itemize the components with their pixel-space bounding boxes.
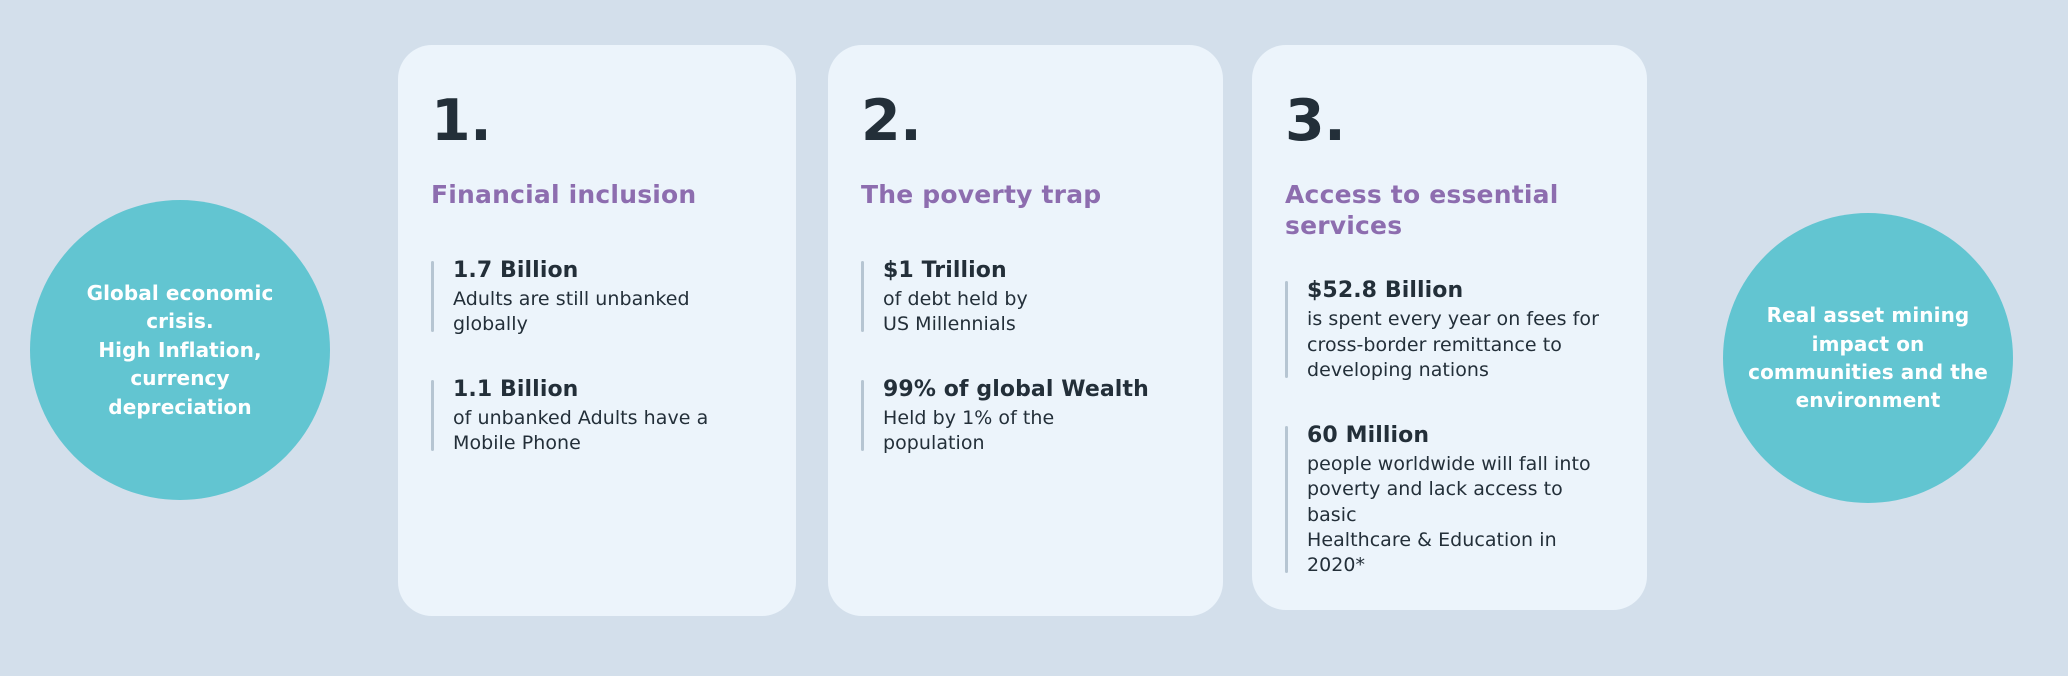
stat-description: of debt held by US Millennials <box>883 287 1185 338</box>
stat-accent-bar <box>1285 426 1288 573</box>
stat-accent-bar <box>431 261 434 332</box>
card-access-to-essential-services: 3. Access to essential services $52.8 Bi… <box>1252 45 1647 610</box>
stat-value: $52.8 Billion <box>1307 277 1609 305</box>
stat-description: of unbanked Adults have a Mobile Phone <box>453 406 758 457</box>
card-1-title: Financial inclusion <box>431 180 758 211</box>
stat-value: $1 Trillion <box>883 257 1185 285</box>
stat-description: people worldwide will fall into poverty … <box>1307 452 1609 579</box>
stat-description: Held by 1% of the population <box>883 406 1185 457</box>
right-context-bubble-text: Real asset mining impact on communities … <box>1734 301 2002 415</box>
stat-accent-bar <box>861 380 864 451</box>
stat-accent-bar <box>1285 281 1288 378</box>
stat-description: is spent every year on fees for cross-bo… <box>1307 307 1609 383</box>
card-poverty-trap: 2. The poverty trap $1 Trillion of debt … <box>828 45 1223 616</box>
stat-description: Adults are still unbanked globally <box>453 287 758 338</box>
stat-accent-bar <box>861 261 864 332</box>
left-context-bubble-text: Global economic crisis. High Inflation, … <box>61 279 300 421</box>
stat-item: 1.7 Billion Adults are still unbanked gl… <box>431 257 758 338</box>
stat-value: 99% of global Wealth <box>883 376 1185 404</box>
stat-accent-bar <box>431 380 434 451</box>
stat-item: 60 Million people worldwide will fall in… <box>1285 422 1609 579</box>
card-1-number: 1. <box>431 93 758 150</box>
stat-item: 99% of global Wealth Held by 1% of the p… <box>861 376 1185 457</box>
stat-value: 1.1 Billion <box>453 376 758 404</box>
stat-item: 1.1 Billion of unbanked Adults have a Mo… <box>431 376 758 457</box>
card-1-stats: 1.7 Billion Adults are still unbanked gl… <box>431 257 758 457</box>
stat-item: $52.8 Billion is spent every year on fee… <box>1285 277 1609 384</box>
infographic-canvas: Global economic crisis. High Inflation, … <box>0 0 2068 676</box>
stat-item: $1 Trillion of debt held by US Millennia… <box>861 257 1185 338</box>
left-context-bubble: Global economic crisis. High Inflation, … <box>30 200 330 500</box>
card-2-stats: $1 Trillion of debt held by US Millennia… <box>861 257 1185 457</box>
card-3-title: Access to essential services <box>1285 180 1609 241</box>
right-context-bubble: Real asset mining impact on communities … <box>1723 213 2013 503</box>
card-2-number: 2. <box>861 93 1185 150</box>
stat-value: 1.7 Billion <box>453 257 758 285</box>
card-2-title: The poverty trap <box>861 180 1185 211</box>
card-3-stats: $52.8 Billion is spent every year on fee… <box>1285 277 1609 579</box>
stat-value: 60 Million <box>1307 422 1609 450</box>
card-3-number: 3. <box>1285 93 1609 150</box>
card-financial-inclusion: 1. Financial inclusion 1.7 Billion Adult… <box>398 45 796 616</box>
